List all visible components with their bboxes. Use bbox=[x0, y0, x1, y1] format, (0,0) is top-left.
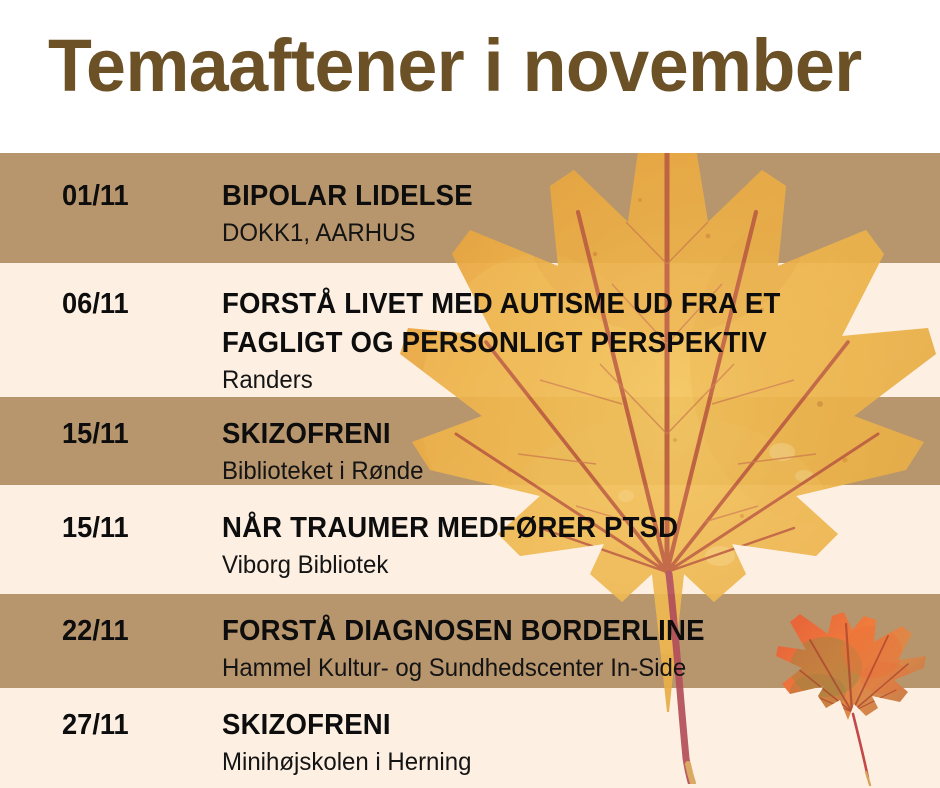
event-row[interactable]: 27/11SKIZOFRENIMinihøjskolen i Herning bbox=[0, 688, 940, 788]
event-venue: Minihøjskolen i Herning bbox=[222, 747, 902, 778]
event-title: NÅR TRAUMER MEDFØRER PTSD bbox=[222, 509, 895, 548]
event-row[interactable]: 22/11FORSTÅ DIAGNOSEN BORDERLINEHammel K… bbox=[0, 594, 940, 688]
event-venue: Viborg Bibliotek bbox=[222, 550, 902, 581]
event-title: SKIZOFRENI bbox=[222, 706, 895, 745]
poster-header: Temaaftener i november bbox=[0, 0, 940, 153]
event-body: SKIZOFRENIMinihøjskolen i Herning bbox=[222, 706, 930, 778]
event-title: SKIZOFRENI bbox=[222, 415, 895, 454]
event-body: SKIZOFRENIBiblioteket i Rønde bbox=[222, 415, 930, 487]
event-body: BIPOLAR LIDELSEDOKK1, AARHUS bbox=[222, 177, 930, 249]
event-title: FORSTÅ LIVET MED AUTISME UD FRA ET FAGLI… bbox=[222, 285, 895, 363]
event-date: 06/11 bbox=[62, 288, 129, 321]
event-venue: DOKK1, AARHUS bbox=[222, 218, 902, 249]
event-row[interactable]: 06/11FORSTÅ LIVET MED AUTISME UD FRA ET … bbox=[0, 263, 940, 397]
page-title: Temaaftener i november bbox=[48, 26, 862, 106]
event-row[interactable]: 15/11NÅR TRAUMER MEDFØRER PTSDViborg Bib… bbox=[0, 485, 940, 594]
event-date: 15/11 bbox=[62, 512, 129, 545]
event-date: 22/11 bbox=[62, 615, 129, 648]
event-venue: Biblioteket i Rønde bbox=[222, 456, 902, 487]
event-row[interactable]: 01/11BIPOLAR LIDELSEDOKK1, AARHUS bbox=[0, 153, 940, 263]
event-body: FORSTÅ LIVET MED AUTISME UD FRA ET FAGLI… bbox=[222, 285, 930, 396]
event-body: FORSTÅ DIAGNOSEN BORDERLINEHammel Kultur… bbox=[222, 612, 930, 684]
event-poster: Temaaftener i november 01/11BIPOLAR LIDE… bbox=[0, 0, 940, 788]
event-body: NÅR TRAUMER MEDFØRER PTSDViborg Bibliote… bbox=[222, 509, 930, 581]
event-date: 27/11 bbox=[62, 709, 129, 742]
event-title: BIPOLAR LIDELSE bbox=[222, 177, 895, 216]
event-venue: Hammel Kultur- og Sundhedscenter In-Side bbox=[222, 653, 902, 684]
event-venue: Randers bbox=[222, 365, 902, 396]
event-date: 01/11 bbox=[62, 180, 129, 213]
event-row[interactable]: 15/11SKIZOFRENIBiblioteket i Rønde bbox=[0, 397, 940, 485]
event-date: 15/11 bbox=[62, 418, 129, 451]
event-title: FORSTÅ DIAGNOSEN BORDERLINE bbox=[222, 612, 895, 651]
